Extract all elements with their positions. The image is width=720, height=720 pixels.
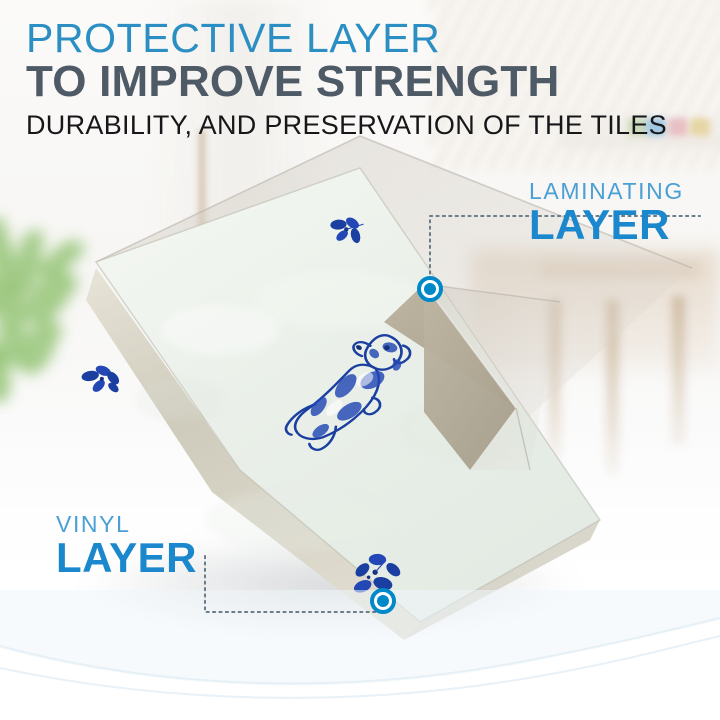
bottom-wave-decoration — [0, 590, 720, 720]
marker-dot-laminating[interactable] — [417, 276, 443, 302]
headline-block: PROTECTIVE LAYER TO IMPROVE STRENGTH DUR… — [26, 18, 667, 139]
headline-line-1: PROTECTIVE LAYER — [26, 18, 667, 58]
callout-vinyl-big: LAYER — [56, 537, 197, 579]
infographic-canvas: LAMINATING LAYER VINYL LAYER PROTECTIVE … — [0, 0, 720, 720]
callout-laminating: LAMINATING LAYER — [529, 180, 684, 246]
marker-dot-vinyl[interactable] — [370, 588, 396, 614]
callout-vinyl-small: VINYL — [56, 513, 197, 536]
callout-laminating-big: LAYER — [529, 204, 684, 246]
callout-vinyl: VINYL LAYER — [56, 513, 197, 579]
headline-line-2: TO IMPROVE STRENGTH — [26, 60, 667, 105]
headline-line-3: DURABILITY, AND PRESERVATION OF THE TILE… — [26, 111, 667, 139]
corner-motif-left — [78, 361, 124, 398]
marker-core — [377, 595, 389, 607]
callout-laminating-small: LAMINATING — [529, 180, 684, 203]
marker-core — [424, 283, 436, 295]
